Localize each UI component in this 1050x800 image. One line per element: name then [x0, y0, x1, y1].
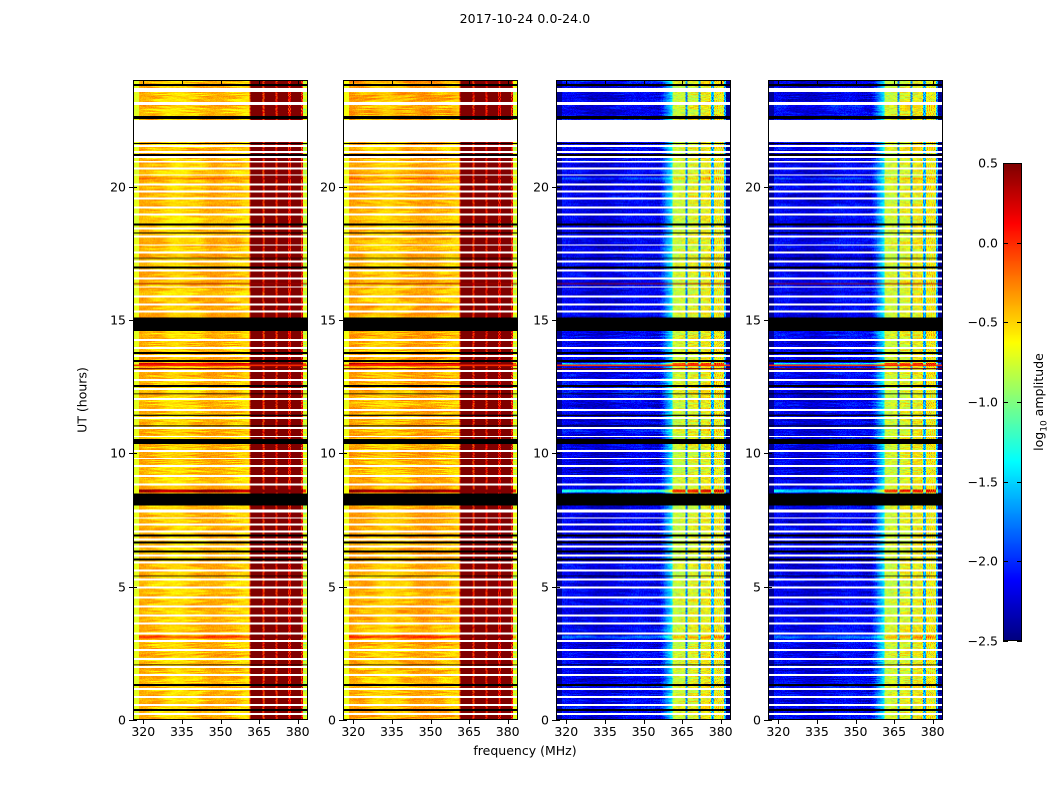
x-tick-label: 335	[593, 724, 617, 739]
y-tick-mark-inner	[133, 320, 137, 321]
y-tick-mark-inner	[556, 720, 560, 721]
x-tick-label: 365	[247, 724, 271, 739]
x-tick-mark-top	[933, 80, 934, 84]
heatmap-yx	[769, 81, 942, 719]
x-tick-mark-top	[143, 80, 144, 84]
x-tick-label: 350	[844, 724, 868, 739]
colorbar-label-sub: 10	[1039, 420, 1049, 431]
colorbar-tick-label: −1.0	[968, 395, 998, 410]
colorbar-tick-mark-left	[1003, 561, 1008, 562]
colorbar-tick-mark	[1017, 561, 1022, 562]
x-tick-label: 380	[286, 724, 310, 739]
colorbar-tick-mark-left	[1003, 402, 1008, 403]
colorbar-label-prefix: log	[1031, 432, 1046, 451]
panel-yy[interactable]: YY, V5=EA19	[343, 80, 518, 720]
y-tick-label: 20	[320, 179, 336, 194]
x-tick-label: 380	[709, 724, 733, 739]
y-tick-mark-inner	[768, 187, 772, 188]
x-tick-label: 335	[380, 724, 404, 739]
x-tick-label: 365	[670, 724, 694, 739]
y-tick-mark-inner	[768, 720, 772, 721]
colorbar-tick-label: −2.5	[968, 634, 998, 649]
y-tick-label: 20	[745, 179, 761, 194]
figure-canvas: 2017-10-24 0.0-24.0 XX, V5=EA19 YY, V5=E…	[0, 0, 1050, 800]
y-tick-label: 0	[753, 713, 761, 728]
y-tick-label: 15	[745, 313, 761, 328]
x-tick-label: 350	[419, 724, 443, 739]
y-tick-mark-inner	[343, 453, 347, 454]
y-tick-mark-inner	[133, 187, 137, 188]
colorbar-tick-label: 0.5	[978, 156, 998, 171]
panel-xy[interactable]: XY, V5=EA19	[556, 80, 731, 720]
colorbar-tick-mark-left	[1003, 322, 1008, 323]
x-tick-mark-top	[778, 80, 779, 84]
y-tick-label: 5	[118, 579, 126, 594]
y-tick-mark-inner	[768, 453, 772, 454]
y-tick-label: 5	[753, 579, 761, 594]
x-tick-mark-top	[298, 80, 299, 84]
x-tick-label: 320	[341, 724, 365, 739]
heatmap-yy	[344, 81, 517, 719]
colorbar-tick-mark-left	[1003, 482, 1008, 483]
x-tick-label: 365	[457, 724, 481, 739]
x-tick-mark-top	[392, 80, 393, 84]
panel-xx[interactable]: XX, V5=EA19	[133, 80, 308, 720]
x-tick-mark-top	[221, 80, 222, 84]
colorbar-tick-label: −1.5	[968, 474, 998, 489]
y-tick-mark-inner	[556, 320, 560, 321]
colorbar-tick-mark-left	[1003, 163, 1008, 164]
colorbar-label: log10 amplitude	[1031, 353, 1050, 451]
y-tick-mark-inner	[768, 587, 772, 588]
colorbar-tick-mark	[1017, 482, 1022, 483]
y-tick-label: 15	[110, 313, 126, 328]
colorbar-tick-label: −0.5	[968, 315, 998, 330]
colorbar-tick-mark	[1017, 163, 1022, 164]
y-tick-mark-inner	[133, 453, 137, 454]
y-tick-mark-inner	[556, 187, 560, 188]
colorbar-tick-mark	[1017, 322, 1022, 323]
y-tick-label: 10	[320, 446, 336, 461]
y-tick-mark-inner	[556, 587, 560, 588]
y-tick-mark-inner	[133, 720, 137, 721]
y-tick-label: 10	[533, 446, 549, 461]
x-tick-label: 320	[131, 724, 155, 739]
y-tick-label: 0	[541, 713, 549, 728]
x-tick-mark-top	[644, 80, 645, 84]
x-tick-mark-top	[182, 80, 183, 84]
colorbar-tick-mark-left	[1003, 243, 1008, 244]
y-tick-mark-inner	[556, 453, 560, 454]
x-tick-mark-top	[469, 80, 470, 84]
y-tick-mark-inner	[343, 187, 347, 188]
x-tick-mark-top	[856, 80, 857, 84]
y-tick-label: 5	[328, 579, 336, 594]
colorbar-tick-mark	[1017, 641, 1022, 642]
y-tick-label: 5	[541, 579, 549, 594]
y-tick-label: 10	[745, 446, 761, 461]
y-tick-mark-inner	[133, 587, 137, 588]
x-tick-mark-top	[431, 80, 432, 84]
colorbar-tick-mark	[1017, 243, 1022, 244]
y-axis-label: UT (hours)	[75, 367, 90, 433]
heatmap-xx	[134, 81, 307, 719]
colorbar-tick-label: 0.0	[978, 235, 998, 250]
figure-suptitle: 2017-10-24 0.0-24.0	[0, 11, 1050, 26]
colorbar-tick-mark	[1017, 402, 1022, 403]
x-tick-label: 350	[209, 724, 233, 739]
x-tick-label: 380	[496, 724, 520, 739]
x-tick-mark-top	[894, 80, 895, 84]
x-tick-mark-top	[605, 80, 606, 84]
y-tick-label: 10	[110, 446, 126, 461]
y-tick-label: 15	[533, 313, 549, 328]
y-tick-label: 0	[118, 713, 126, 728]
x-tick-mark-top	[817, 80, 818, 84]
x-tick-label: 335	[805, 724, 829, 739]
heatmap-xy	[557, 81, 730, 719]
colorbar-tick-label: −2.0	[968, 554, 998, 569]
y-tick-mark-inner	[343, 320, 347, 321]
colorbar-label-suffix: amplitude	[1031, 353, 1046, 420]
x-tick-label: 365	[882, 724, 906, 739]
x-tick-label: 380	[921, 724, 945, 739]
x-tick-label: 320	[766, 724, 790, 739]
x-tick-mark-top	[682, 80, 683, 84]
x-tick-label: 335	[170, 724, 194, 739]
panel-yx[interactable]: YX, V5=EA19	[768, 80, 943, 720]
x-axis-label: frequency (MHz)	[0, 743, 1050, 758]
y-tick-mark-inner	[768, 320, 772, 321]
y-tick-label: 15	[320, 313, 336, 328]
x-tick-mark-top	[259, 80, 260, 84]
x-tick-label: 350	[632, 724, 656, 739]
y-tick-label: 0	[328, 713, 336, 728]
colorbar-tick-mark-left	[1003, 641, 1008, 642]
x-tick-mark-top	[353, 80, 354, 84]
y-tick-label: 20	[533, 179, 549, 194]
y-tick-mark-inner	[343, 587, 347, 588]
x-tick-mark-top	[508, 80, 509, 84]
x-tick-label: 320	[554, 724, 578, 739]
y-tick-mark-inner	[343, 720, 347, 721]
x-tick-mark-top	[721, 80, 722, 84]
x-tick-mark-top	[566, 80, 567, 84]
y-tick-label: 20	[110, 179, 126, 194]
